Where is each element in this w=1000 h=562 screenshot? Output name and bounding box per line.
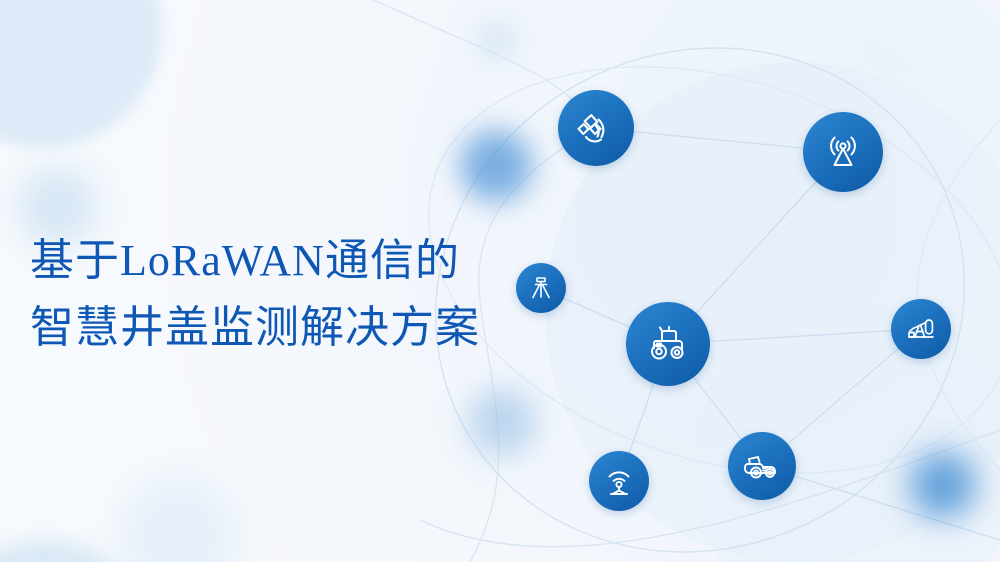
harvester-icon — [741, 445, 783, 487]
node-survey-tripod[interactable] — [516, 263, 566, 313]
node-radio-tower[interactable] — [803, 112, 883, 192]
title-line-1: 基于LoRaWAN通信的 — [30, 228, 550, 295]
node-harvester[interactable] — [728, 432, 796, 500]
radio-tower-icon — [820, 129, 866, 175]
node-wireless-sensor[interactable] — [589, 451, 649, 511]
title-line-2: 智慧井盖监测解决方案 — [30, 295, 550, 362]
node-tractor[interactable] — [626, 302, 710, 386]
slide-canvas: 基于LoRaWAN通信的 智慧井盖监测解决方案 — [0, 0, 1000, 562]
node-oil-pumpjack[interactable] — [891, 299, 951, 359]
oil-pumpjack-icon — [903, 311, 939, 347]
title-block: 基于LoRaWAN通信的 智慧井盖监测解决方案 — [30, 228, 550, 362]
tractor-icon — [643, 319, 693, 369]
survey-tripod-icon — [526, 273, 556, 303]
wireless-sensor-icon — [601, 463, 637, 499]
node-satellite-dish[interactable] — [558, 90, 634, 166]
satellite-dish-icon — [574, 106, 618, 150]
